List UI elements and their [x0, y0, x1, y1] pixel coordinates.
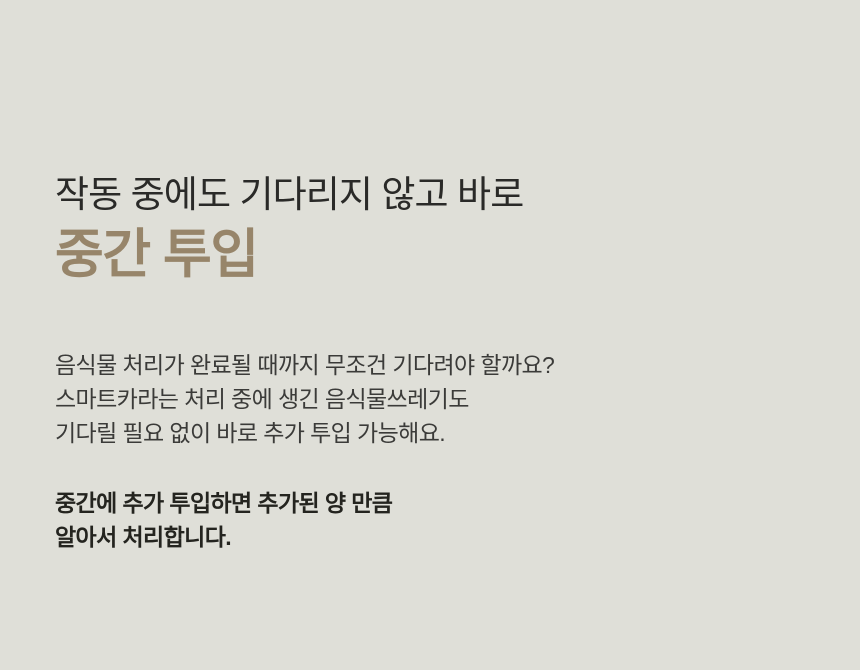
body-line-3: 기다릴 필요 없이 바로 추가 투입 가능해요. [55, 416, 815, 450]
page-title: 작동 중에도 기다리지 않고 바로 중간 투입 [55, 172, 815, 286]
headline-line-1: 작동 중에도 기다리지 않고 바로 [55, 172, 815, 218]
body-line-1: 음식물 처리가 완료될 때까지 무조건 기다려야 할까요? [55, 348, 815, 382]
headline-line-2-highlight: 중간 투입 [55, 224, 815, 286]
body-line-2: 스마트카라는 처리 중에 생긴 음식물쓰레기도 [55, 382, 815, 416]
emphasis-paragraph: 중간에 추가 투입하면 추가된 양 만큼 알아서 처리합니다. [55, 486, 815, 554]
promo-panel: 작동 중에도 기다리지 않고 바로 중간 투입 음식물 처리가 완료될 때까지 … [0, 0, 860, 670]
emphasis-line-2: 알아서 처리합니다. [55, 520, 815, 554]
body-paragraph: 음식물 처리가 완료될 때까지 무조건 기다려야 할까요? 스마트카라는 처리 … [55, 348, 815, 450]
emphasis-line-1: 중간에 추가 투입하면 추가된 양 만큼 [55, 486, 815, 520]
content-block: 작동 중에도 기다리지 않고 바로 중간 투입 음식물 처리가 완료될 때까지 … [55, 172, 815, 554]
